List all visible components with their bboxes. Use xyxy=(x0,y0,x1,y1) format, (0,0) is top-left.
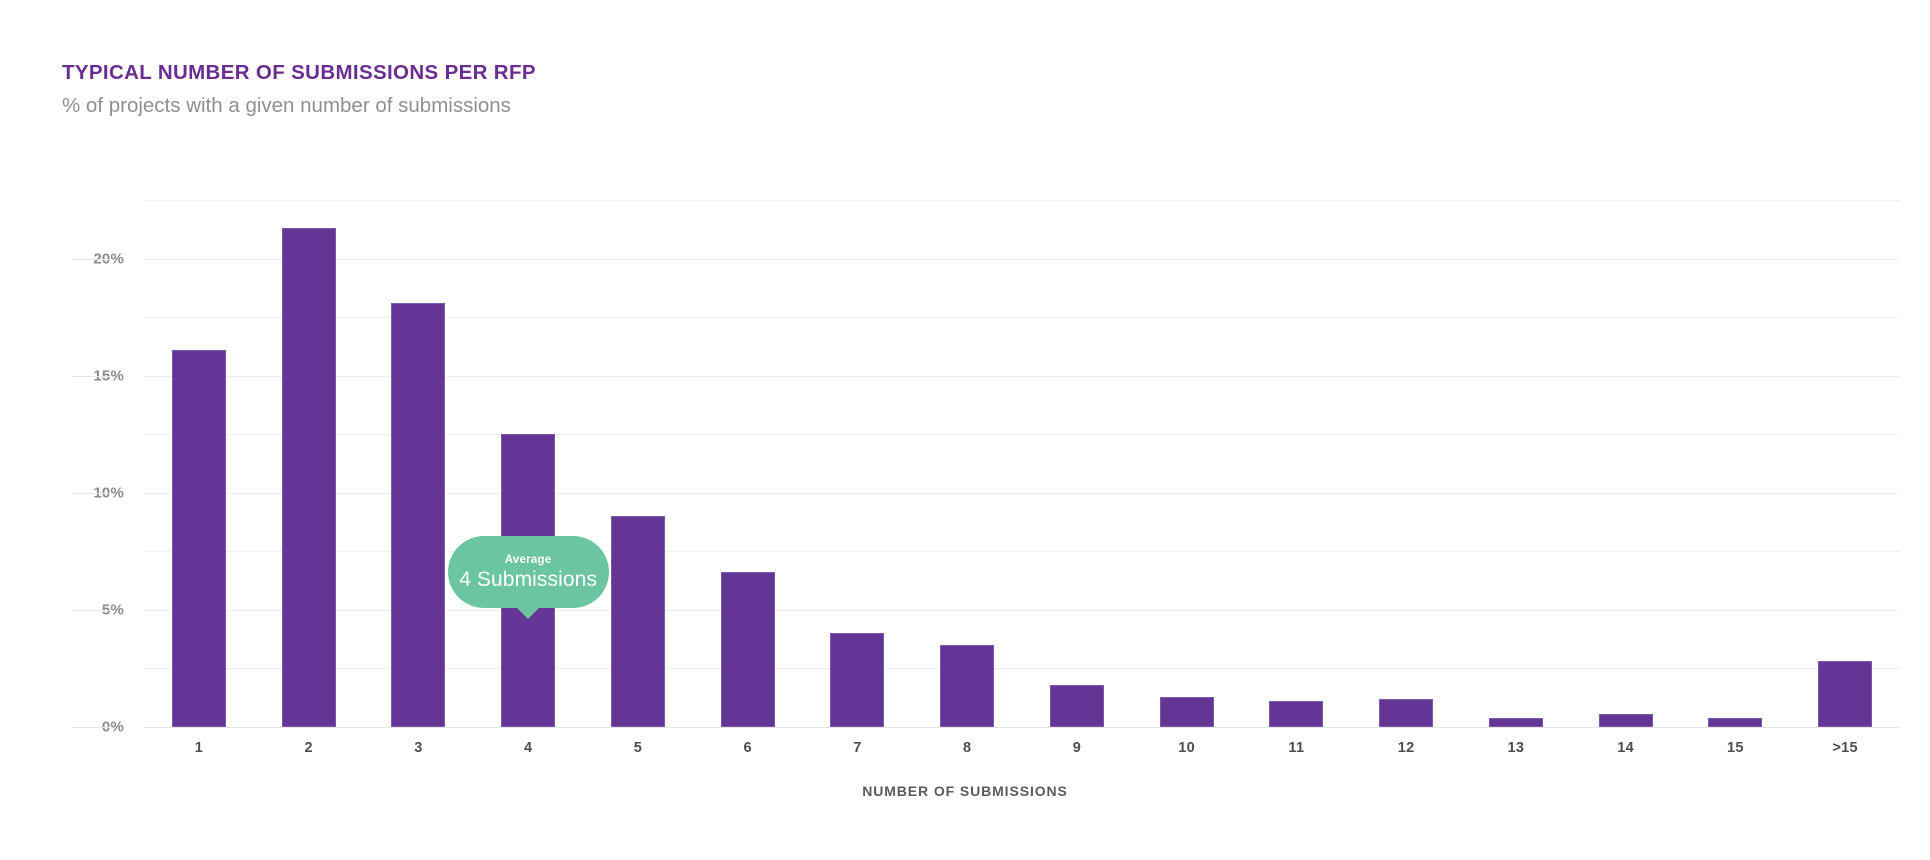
bar[interactable] xyxy=(1599,714,1653,727)
bar-slot xyxy=(803,200,913,727)
x-axis-tick-label: 11 xyxy=(1288,740,1304,756)
bar[interactable] xyxy=(1269,701,1323,727)
x-axis-tick-label: 9 xyxy=(1073,740,1081,756)
x-axis-tick-label: 12 xyxy=(1398,740,1415,756)
bar-slot xyxy=(1790,200,1900,727)
callout-pointer-icon xyxy=(515,606,541,619)
bar[interactable] xyxy=(282,228,336,727)
x-axis-tick-label: 13 xyxy=(1508,740,1525,756)
x-axis-tick-label: 4 xyxy=(524,740,532,756)
x-axis-tick-label: 7 xyxy=(853,740,861,756)
bar[interactable] xyxy=(1489,718,1543,727)
bar[interactable] xyxy=(721,572,775,727)
x-axis-tick-label: 5 xyxy=(634,740,642,756)
bar-slot xyxy=(254,200,364,727)
x-axis-tick-labels: 123456789101112131415>15 xyxy=(144,740,1900,766)
axis-baseline xyxy=(144,727,1900,728)
bar[interactable] xyxy=(611,516,665,727)
bar-slot xyxy=(693,200,803,727)
bar-slot xyxy=(583,200,693,727)
y-axis-tick-stub xyxy=(72,727,110,728)
callout-kicker-label: Average xyxy=(505,555,552,567)
x-axis-tick-label: >15 xyxy=(1832,740,1858,756)
bar[interactable] xyxy=(1379,699,1433,727)
bar-slot xyxy=(364,200,474,727)
bar-slot xyxy=(1571,200,1681,727)
x-axis-tick-label: 2 xyxy=(304,740,312,756)
bar-slot xyxy=(1242,200,1352,727)
y-axis-tick-stub xyxy=(72,259,110,260)
chart-page: TYPICAL NUMBER OF SUBMISSIONS PER RFP % … xyxy=(0,0,1930,860)
bar[interactable] xyxy=(830,633,884,727)
x-axis-tick-label: 10 xyxy=(1178,740,1195,756)
callout-value-label: 4 Submissions xyxy=(459,569,597,590)
bar[interactable] xyxy=(1050,685,1104,727)
x-axis-title: NUMBER OF SUBMISSIONS xyxy=(0,783,1930,799)
x-axis-tick-label: 3 xyxy=(414,740,422,756)
bar-slot xyxy=(144,200,254,727)
bar[interactable] xyxy=(391,303,445,727)
x-axis-tick-label: 15 xyxy=(1727,740,1744,756)
bar[interactable] xyxy=(1818,661,1872,727)
x-axis-tick-label: 8 xyxy=(963,740,971,756)
x-axis-tick-label: 6 xyxy=(743,740,751,756)
bar-series xyxy=(144,200,1900,727)
bar-slot xyxy=(1351,200,1461,727)
y-axis-tick-stub xyxy=(72,493,110,494)
bar[interactable] xyxy=(172,350,226,727)
bar[interactable] xyxy=(940,645,994,727)
bar-slot xyxy=(1461,200,1571,727)
x-axis-tick-label: 14 xyxy=(1617,740,1634,756)
average-callout[interactable]: Average 4 Submissions xyxy=(448,536,609,608)
bar-slot xyxy=(473,200,583,727)
callout-bubble: Average 4 Submissions xyxy=(448,536,609,608)
chart-plot-wrapper: 0%5%10%15%20% 123456789101112131415>15 N… xyxy=(0,0,1930,860)
bar-slot xyxy=(1022,200,1132,727)
y-axis-tick-stub xyxy=(72,610,110,611)
bar-slot xyxy=(912,200,1022,727)
bar-slot xyxy=(1132,200,1242,727)
y-axis-tick-stub xyxy=(72,376,110,377)
y-axis xyxy=(62,200,124,727)
bar[interactable] xyxy=(1708,718,1762,727)
bar-slot xyxy=(1681,200,1791,727)
x-axis-tick-label: 1 xyxy=(195,740,203,756)
bar[interactable] xyxy=(1160,697,1214,727)
